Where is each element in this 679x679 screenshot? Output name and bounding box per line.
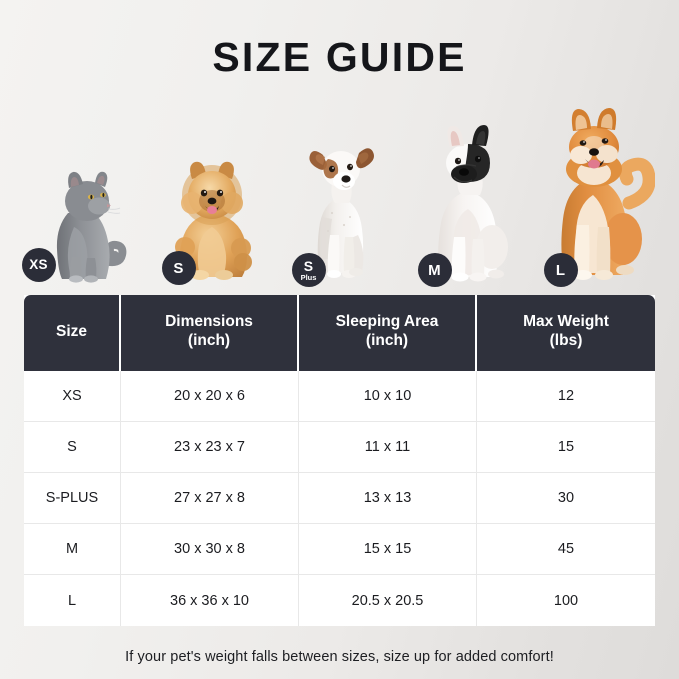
table-row: XS 20 x 20 x 6 10 x 10 12 <box>24 371 655 422</box>
size-badge-s: S <box>162 251 196 285</box>
table-row: M 30 x 30 x 8 15 x 15 45 <box>24 524 655 575</box>
cell-size: S <box>24 422 121 473</box>
size-badge-m: M <box>418 253 452 287</box>
animal-cell-m: M <box>404 100 532 283</box>
cell-size: L <box>24 575 121 626</box>
table-body: XS 20 x 20 x 6 10 x 10 12 S 23 x 23 x 7 … <box>24 371 655 626</box>
title-container: SIZE GUIDE <box>0 0 679 100</box>
size-badge-xs: XS <box>22 248 56 282</box>
column-header-line2: (lbs) <box>481 332 651 351</box>
size-badge-s-plus: S Plus <box>292 253 326 287</box>
table-row: S-PLUS 27 x 27 x 8 13 x 13 30 <box>24 473 655 524</box>
cell-max-weight: 30 <box>477 473 655 524</box>
animal-cell-s-plus: S Plus <box>276 100 404 283</box>
cell-sleeping-area: 11 x 11 <box>299 422 477 473</box>
cell-sleeping-area: 13 x 13 <box>299 473 477 524</box>
size-table: Size Dimensions (inch) Sleeping Area (in… <box>24 295 655 626</box>
cell-dimensions: 36 x 36 x 10 <box>121 575 299 626</box>
size-badge-label: S <box>173 261 183 276</box>
size-badge-label: M <box>428 263 441 278</box>
size-badge-label: L <box>556 263 565 278</box>
cell-size: XS <box>24 371 121 422</box>
cell-dimensions: 23 x 23 x 7 <box>121 422 299 473</box>
cell-max-weight: 15 <box>477 422 655 473</box>
size-guide-page: SIZE GUIDE <box>0 0 679 679</box>
size-badge-l: L <box>544 253 578 287</box>
cell-dimensions: 27 x 27 x 8 <box>121 473 299 524</box>
column-header-dimensions: Dimensions (inch) <box>121 295 299 371</box>
size-table-container: Size Dimensions (inch) Sleeping Area (in… <box>24 295 655 635</box>
column-header-line1: Sleeping Area <box>303 313 471 332</box>
size-badge-label: XS <box>29 258 47 272</box>
table-row: S 23 x 23 x 7 11 x 11 15 <box>24 422 655 473</box>
cell-dimensions: 30 x 30 x 8 <box>121 524 299 575</box>
cell-size: M <box>24 524 121 575</box>
table-header: Size Dimensions (inch) Sleeping Area (in… <box>24 295 655 371</box>
size-badge-label: S <box>304 259 314 273</box>
footer-note: If your pet's weight falls between sizes… <box>0 635 679 679</box>
cell-max-weight: 45 <box>477 524 655 575</box>
animal-size-comparison-row: XS <box>0 100 679 285</box>
column-header-line1: Dimensions <box>125 313 293 332</box>
page-title: SIZE GUIDE <box>212 34 466 81</box>
table-row: L 36 x 36 x 10 20.5 x 20.5 100 <box>24 575 655 626</box>
cell-sleeping-area: 20.5 x 20.5 <box>299 575 477 626</box>
animal-cell-l: L <box>532 100 660 283</box>
cell-sleeping-area: 10 x 10 <box>299 371 477 422</box>
column-header-sleeping-area: Sleeping Area (inch) <box>299 295 477 371</box>
cell-max-weight: 100 <box>477 575 655 626</box>
size-badge-sublabel: Plus <box>301 274 317 282</box>
column-header-line1: Max Weight <box>481 313 651 332</box>
table-header-row: Size Dimensions (inch) Sleeping Area (in… <box>24 295 655 371</box>
cell-dimensions: 20 x 20 x 6 <box>121 371 299 422</box>
cell-sleeping-area: 15 x 15 <box>299 524 477 575</box>
column-header-line2: (inch) <box>125 332 293 351</box>
column-header-size: Size <box>24 295 121 371</box>
column-header-max-weight: Max Weight (lbs) <box>477 295 655 371</box>
column-header-line2: (inch) <box>303 332 471 351</box>
animal-cell-s: S <box>148 100 276 283</box>
column-header-line1: Size <box>28 323 115 342</box>
animal-cell-xs: XS <box>20 100 148 283</box>
cell-max-weight: 12 <box>477 371 655 422</box>
cell-size: S-PLUS <box>24 473 121 524</box>
